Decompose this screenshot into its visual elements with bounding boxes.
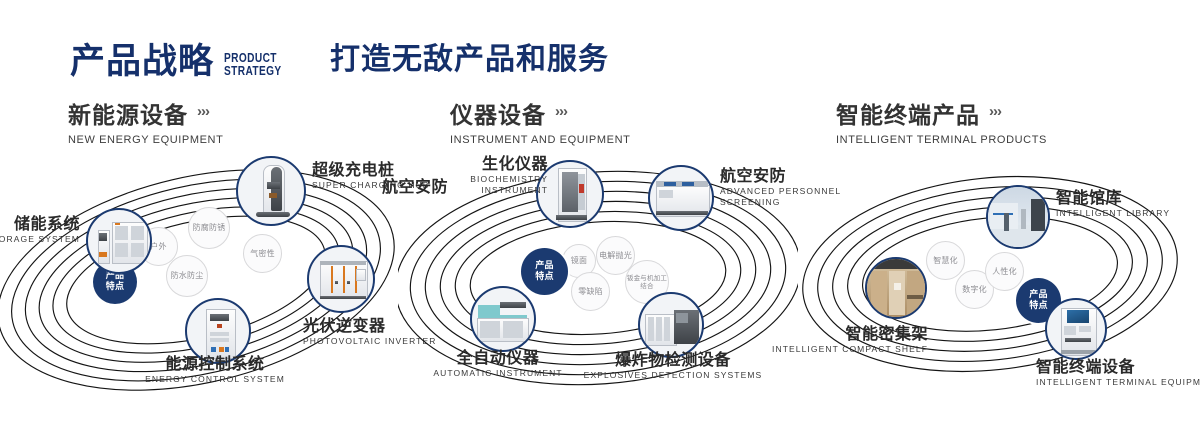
node-label-cn: 智能密集架 bbox=[728, 324, 928, 343]
cluster-intelligent-terminal: 智慧化 数字化 人性化 产品 特点 智能馆库 INTELLIGENT LIBRA… bbox=[798, 152, 1198, 412]
feature-bubble: 防水防尘 bbox=[166, 255, 208, 297]
node-charging-hub[interactable] bbox=[236, 156, 306, 226]
control-cabinet-icon bbox=[187, 300, 249, 362]
node-advanced-screening[interactable] bbox=[648, 165, 714, 231]
page-title: 产品战略 bbox=[70, 45, 214, 80]
node-energy-storage[interactable] bbox=[86, 208, 152, 274]
section-title-en: INTELLIGENT TERMINAL PRODUCTS bbox=[836, 134, 1047, 146]
chevron-right-icon: ››› bbox=[555, 103, 567, 120]
section-title-cn: 新能源设备 bbox=[68, 96, 188, 130]
compact-shelf-icon bbox=[867, 259, 925, 317]
core-badge-text: 产品 特点 bbox=[1029, 290, 1048, 312]
node-intelligent-library[interactable] bbox=[986, 185, 1050, 249]
feature-bubble: 防腐防锈 bbox=[188, 207, 230, 249]
node-label-en: INTELLIGENT COMPACT SHELF bbox=[728, 344, 928, 355]
node-label-cn: 全自动仪器 bbox=[388, 348, 608, 367]
section-title-cn: 智能终端产品 bbox=[836, 96, 980, 130]
core-line1: 产品 bbox=[535, 261, 554, 271]
node-label-energy-storage: 储能系统 ENERGY STORAGE SYSTEM bbox=[0, 214, 80, 245]
node-label-cn: 生化仪器 bbox=[418, 154, 548, 173]
node-compact-shelf[interactable] bbox=[865, 257, 927, 319]
node-label-cn: 能源控制系统 bbox=[85, 354, 345, 373]
node-label-terminal-equipment: 智能终端设备 INTELLIGENT TERMINAL EQUIPMENT bbox=[1036, 357, 1200, 388]
screening-machine-icon bbox=[650, 167, 712, 229]
node-label-cn: 智能馆库 bbox=[1056, 188, 1200, 207]
core-line2: 特点 bbox=[1029, 301, 1048, 311]
node-label-en: BIOCHEMISTRY INSTRUMENT bbox=[418, 174, 548, 196]
core-line2: 特点 bbox=[106, 282, 125, 292]
page-subtitle: 打造无敌产品和服务 bbox=[330, 34, 609, 78]
section-title-intelligent-terminal: 智能终端产品››› INTELLIGENT TERMINAL PRODUCTS bbox=[836, 96, 1047, 146]
core-badge-text: 产品 特点 bbox=[106, 271, 125, 293]
terminal-kiosk-icon bbox=[1047, 300, 1105, 358]
library-room-icon bbox=[988, 187, 1048, 247]
feature-bubble: 零缺陷 bbox=[571, 272, 610, 311]
node-automatic-instrument[interactable] bbox=[470, 286, 536, 352]
feature-bubble: 气密性 bbox=[243, 234, 282, 273]
node-label-automatic-instrument: 全自动仪器 AUTOMATIC INSTRUMENT bbox=[388, 348, 608, 379]
node-label-cn: 储能系统 bbox=[0, 214, 80, 233]
chevron-right-icon: ››› bbox=[197, 103, 209, 120]
node-label-energy-control: 能源控制系统 ENERGY CONTROL SYSTEM bbox=[85, 354, 345, 385]
node-label-en: ENERGY CONTROL SYSTEM bbox=[85, 374, 345, 385]
node-terminal-equipment[interactable] bbox=[1045, 298, 1107, 360]
node-label-en: INTELLIGENT TERMINAL EQUIPMENT bbox=[1036, 377, 1200, 388]
core-line1: 产品 bbox=[1029, 290, 1048, 300]
section-title-cn: 仪器设备 bbox=[450, 96, 546, 130]
feature-bubble: 人性化 bbox=[985, 252, 1024, 291]
page-title-en: PRODUCT STRATEGY bbox=[224, 51, 282, 77]
section-title-new-energy: 新能源设备››› NEW ENERGY EQUIPMENT bbox=[68, 96, 223, 146]
automatic-instrument-icon bbox=[472, 288, 534, 350]
core-line2: 特点 bbox=[535, 272, 554, 282]
feature-bubble: 智慧化 bbox=[926, 241, 965, 280]
node-label-cn: 智能终端设备 bbox=[1036, 357, 1200, 376]
product-strategy-infographic: 产品战略 PRODUCT STRATEGY 打造无敌产品和服务 新能源设备›››… bbox=[0, 0, 1200, 422]
node-pv-inverter[interactable] bbox=[307, 245, 375, 313]
cluster-instrument: 镜面 电解抛光 零缺陷 钣金与机加工结合 产品 特点 航空安防 生化仪器 bbox=[398, 152, 798, 412]
section-title-instrument: 仪器设备››› INSTRUMENT AND EQUIPMENT bbox=[450, 96, 630, 146]
page-header: 产品战略 PRODUCT STRATEGY bbox=[70, 28, 298, 80]
chevron-right-icon: ››› bbox=[989, 103, 1001, 120]
page-title-en-line2: STRATEGY bbox=[224, 64, 282, 77]
node-explosives-detection[interactable] bbox=[638, 292, 704, 358]
detection-system-icon bbox=[640, 294, 702, 356]
section-title-en: INSTRUMENT AND EQUIPMENT bbox=[450, 134, 630, 146]
pv-inverter-cabinet-icon bbox=[309, 247, 373, 311]
core-badge-text: 产品 特点 bbox=[535, 261, 554, 283]
energy-storage-cabinet-icon bbox=[88, 210, 150, 272]
node-label-compact-shelf: 智能密集架 INTELLIGENT COMPACT SHELF bbox=[728, 324, 928, 355]
node-label-en: ENERGY STORAGE SYSTEM bbox=[0, 234, 80, 245]
node-label-intelligent-library: 智能馆库 INTELLIGENT LIBRARY bbox=[1056, 188, 1200, 219]
section-title-en: NEW ENERGY EQUIPMENT bbox=[68, 134, 223, 146]
node-label-en: AUTOMATIC INSTRUMENT bbox=[388, 368, 608, 379]
node-label-en: INTELLIGENT LIBRARY bbox=[1056, 208, 1200, 219]
node-label-biochemistry: 生化仪器 BIOCHEMISTRY INSTRUMENT bbox=[418, 154, 548, 196]
charging-pile-icon bbox=[238, 158, 304, 224]
